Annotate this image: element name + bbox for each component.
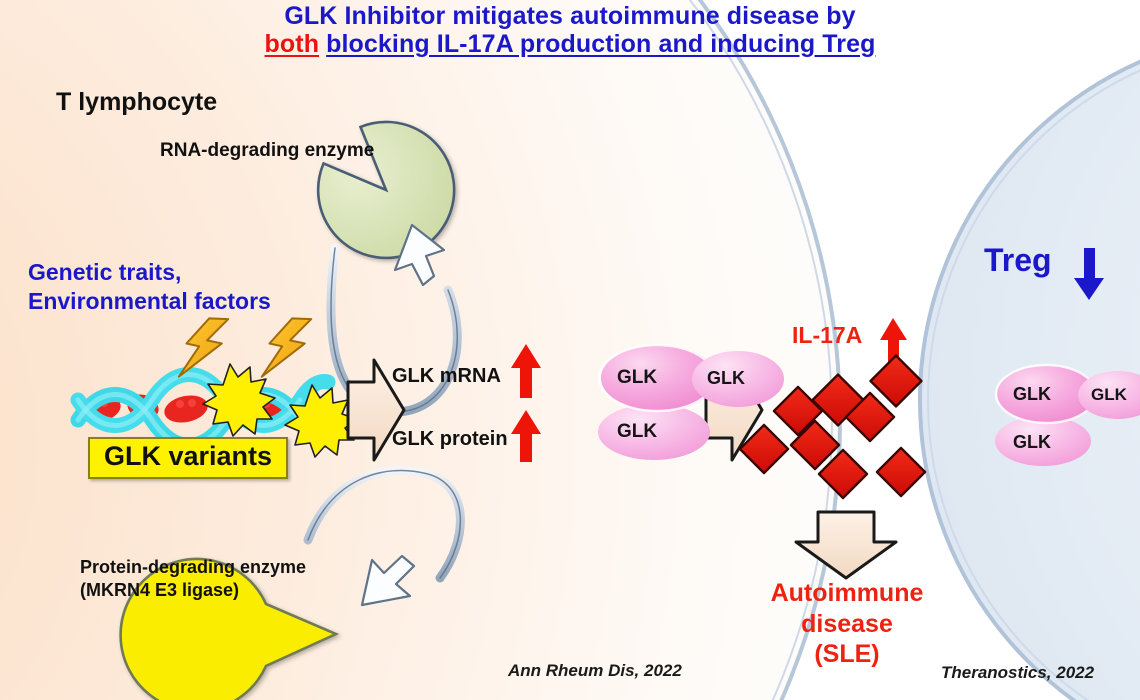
- glk-variants-label: GLK variants: [104, 441, 272, 471]
- glk-mrna-label: GLK mRNA: [392, 365, 501, 388]
- rna-degrading-enzyme-label: RNA-degrading enzyme: [160, 140, 374, 162]
- genetic-environmental-label: Genetic traits, Environmental factors: [28, 258, 271, 317]
- il17a-label: IL-17A: [792, 322, 862, 349]
- red-up-arrow-icon-protein: [511, 410, 541, 462]
- protein-degrading-enzyme-line-1: Protein-degrading enzyme: [80, 556, 306, 579]
- dna-double-helix-icon: [75, 375, 330, 446]
- protein-degrading-enzyme-line-2: (MKRN4 E3 ligase): [80, 579, 306, 602]
- glk-molecule-label: GLK: [707, 368, 745, 389]
- autoimmune-line-2: disease: [742, 609, 952, 640]
- environmental-factors-line: Environmental factors: [28, 287, 271, 316]
- red-diamond: [871, 356, 922, 407]
- green-pacman-icon: [298, 101, 475, 278]
- genetic-traits-line: Genetic traits,: [28, 258, 271, 287]
- down-block-arrow-icon: [796, 512, 896, 578]
- glk-molecule-label: GLK: [1013, 432, 1051, 453]
- autoimmune-disease-label: Autoimmune disease (SLE): [742, 578, 952, 670]
- title-emphasis-both: both: [265, 30, 320, 58]
- citation-theranostics: Theranostics, 2022: [941, 663, 1094, 683]
- glk-molecule-label: GLK: [1013, 384, 1051, 405]
- blue-down-arrow-icon: [1074, 248, 1104, 300]
- treg-label: Treg: [984, 242, 1052, 279]
- glk-protein-label: GLK protein: [392, 428, 508, 451]
- glk-molecule-label: GLK: [1091, 385, 1127, 405]
- citation-ann-rheum-dis: Ann Rheum Dis, 2022: [508, 661, 682, 681]
- red-up-arrow-icon-mrna: [511, 344, 541, 398]
- glk-molecule-label: GLK: [617, 367, 657, 389]
- glk-molecule-label: GLK: [617, 421, 657, 443]
- t-lymphocyte-label: T lymphocyte: [56, 88, 217, 117]
- red-diamond: [877, 448, 925, 496]
- autoimmune-line-1: Autoimmune: [742, 578, 952, 609]
- page-title: GLK Inhibitor mitigates autoimmune disea…: [0, 2, 1140, 58]
- protein-degrading-enzyme-label: Protein-degrading enzyme (MKRN4 E3 ligas…: [80, 556, 306, 602]
- glk-variants-box: GLK variants: [88, 437, 288, 479]
- curved-arrow-down-icon: [308, 470, 460, 605]
- autoimmune-line-3: (SLE): [742, 639, 952, 670]
- diagram-canvas: GLK Inhibitor mitigates autoimmune disea…: [0, 0, 1140, 700]
- title-line-2: both blocking IL-17A production and indu…: [0, 30, 1140, 58]
- title-line-2-rest: blocking IL-17A production and inducing …: [326, 30, 875, 58]
- title-line-1: GLK Inhibitor mitigates autoimmune disea…: [0, 2, 1140, 30]
